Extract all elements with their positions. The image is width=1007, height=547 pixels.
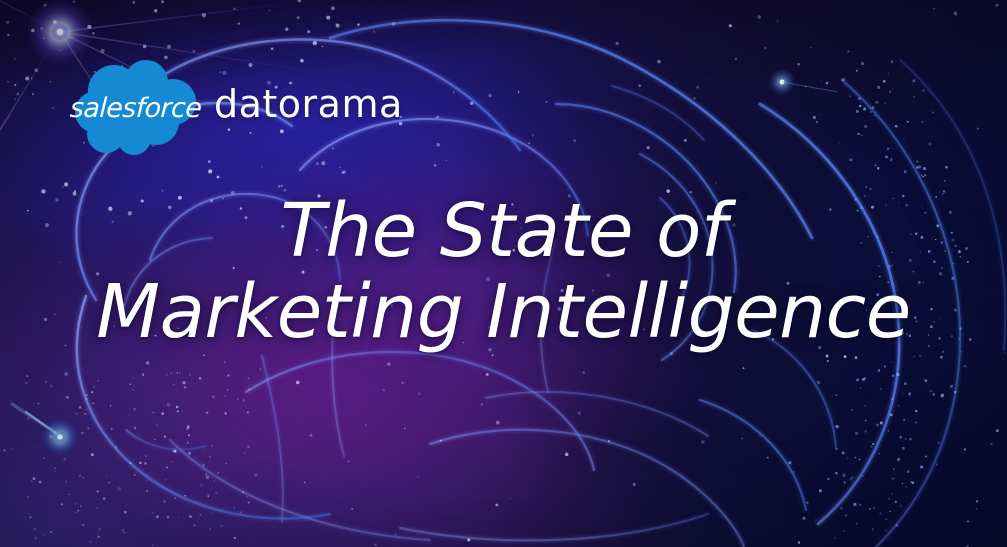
salesforce-wordmark: salesforce (70, 93, 203, 124)
datorama-wordmark: datorama (214, 82, 403, 126)
salesforce-cloud-icon[interactable]: salesforce (70, 58, 200, 156)
hero-banner: salesforce datorama The State of Marketi… (0, 0, 1007, 547)
brand-logo-lockup[interactable]: salesforce datorama (70, 58, 403, 156)
